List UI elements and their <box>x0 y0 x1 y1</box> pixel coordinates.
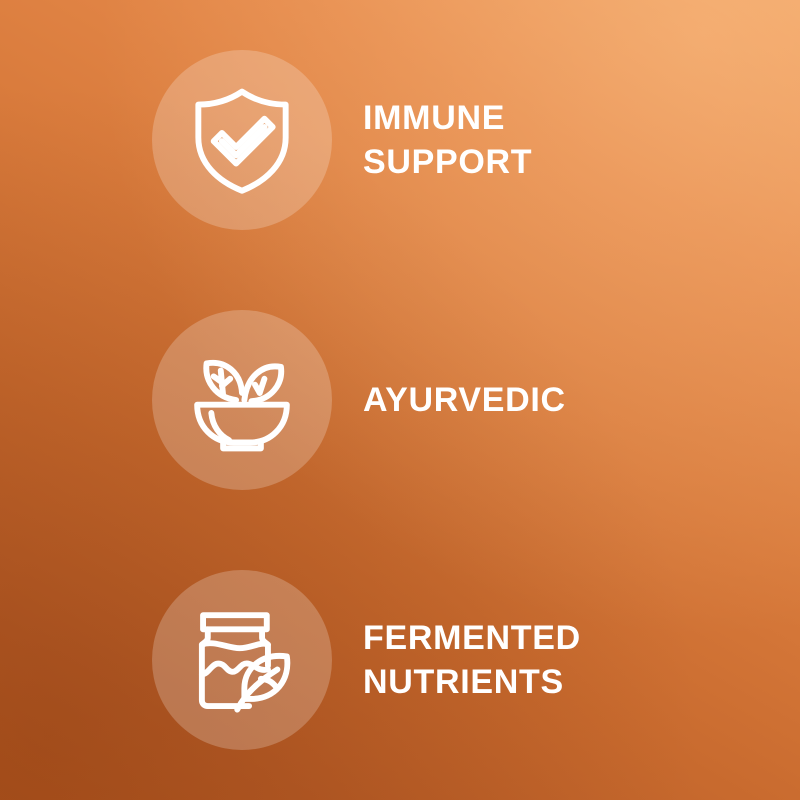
feature-label-ayurvedic: AYURVEDIC <box>363 378 566 422</box>
feature-row-ayurvedic: AYURVEDIC <box>0 270 800 530</box>
bowl-leaves-icon <box>183 341 301 459</box>
product-benefits-banner: IMMUNE SUPPORT AYURVEDIC <box>0 0 800 800</box>
feature-row-fermented-nutrients: FERMENTED NUTRIENTS <box>0 530 800 790</box>
shield-check-icon <box>183 81 301 199</box>
feature-label-fermented-nutrients: FERMENTED NUTRIENTS <box>363 616 581 704</box>
icon-badge-immune-support <box>152 50 332 230</box>
feature-row-immune-support: IMMUNE SUPPORT <box>0 10 800 270</box>
feature-list: IMMUNE SUPPORT AYURVEDIC <box>0 0 800 800</box>
feature-label-immune-support: IMMUNE SUPPORT <box>363 96 532 184</box>
icon-badge-fermented-nutrients <box>152 570 332 750</box>
fermented-jar-leaf-icon <box>183 601 301 719</box>
icon-badge-ayurvedic <box>152 310 332 490</box>
